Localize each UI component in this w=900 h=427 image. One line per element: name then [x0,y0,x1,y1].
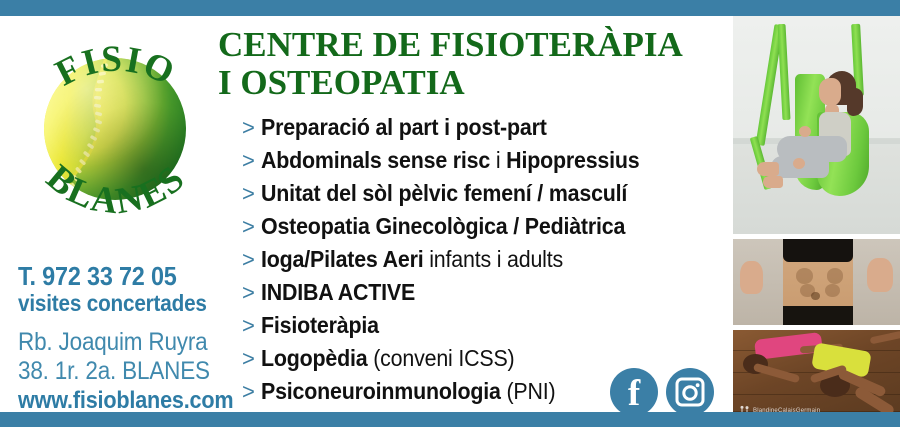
address-block: Rb. Joaquim Ruyra 38. 1r. 2a. BLANES www… [18,328,232,416]
headline-line-2: I OSTEOPATIA [218,64,728,102]
service-item-label: Psiconeuroinmunologia (PNI) [261,378,555,405]
service-item: >Osteopatia Ginecològica / Pediàtrica [242,213,722,246]
headline-line-1: CENTRE DE FISIOTERÀPIA [218,25,683,64]
advertisement-banner: FISIO BLANES T. 972 33 72 05 visites con… [0,0,900,427]
service-item-label: INDIBA ACTIVE [261,279,415,306]
services-list: >Preparació al part i post-part>Abdomina… [242,114,722,411]
service-item-label: Fisioteràpia [261,312,379,339]
chevron-right-icon: > [242,313,261,339]
chevron-right-icon: > [242,148,261,174]
service-item: >Ioga/Pilates Aeri infants i adults [242,246,722,279]
instagram-button[interactable] [666,368,714,416]
phone-number[interactable]: T. 972 33 72 05 [18,262,211,290]
chevron-right-icon: > [242,247,261,273]
service-item-label: Osteopatia Ginecològica / Pediàtrica [261,213,625,240]
service-item: >INDIBA ACTIVE [242,279,722,312]
address-line-2: 38. 1r. 2a. BLANES [18,357,211,386]
contact-block: T. 972 33 72 05 visites concertades Rb. … [18,262,232,416]
photo-column: BlandineCalaisGermain [733,16,900,422]
address-line-1: Rb. Joaquim Ruyra [18,328,211,357]
social-links: f [610,368,714,416]
service-item: >Unitat del sòl pèlvic femení / masculí [242,180,722,213]
service-item: >Fisioteràpia [242,312,722,345]
chevron-right-icon: > [242,181,261,207]
hypopressive-abs-photo [733,239,900,325]
service-item-label: Abdominals sense risc i Hipopressius [261,147,639,174]
chevron-right-icon: > [242,280,261,306]
top-accent-bar [0,0,900,16]
instagram-icon [675,377,705,407]
service-item-label: Preparació al part i post-part [261,114,547,141]
chevron-right-icon: > [242,379,261,405]
page-title: CENTRE DE FISIOTERÀPIA I OSTEOPATIA [218,26,728,102]
spine-sphere-icon [44,58,186,200]
fisio-blanes-logo: FISIO BLANES [8,18,224,246]
aerial-yoga-photo [733,16,900,234]
service-item: >Preparació al part i post-part [242,114,722,147]
sphere-shading [44,58,186,200]
chevron-right-icon: > [242,115,261,141]
bottom-accent-bar [0,412,900,427]
facebook-icon: f [628,375,640,412]
facebook-button[interactable]: f [610,368,658,416]
children-floor-exercise-photo: BlandineCalaisGermain [733,330,900,422]
visits-note: visites concertades [18,290,211,316]
service-item-label: Logopèdia (conveni ICSS) [261,345,514,372]
service-item-label: Ioga/Pilates Aeri infants i adults [261,246,563,273]
service-item: >Abdominals sense risc i Hipopressius [242,147,722,180]
left-column: FISIO BLANES T. 972 33 72 05 visites con… [0,16,232,412]
chevron-right-icon: > [242,214,261,240]
chevron-right-icon: > [242,346,261,372]
center-column: CENTRE DE FISIOTERÀPIA I OSTEOPATIA >Pre… [216,16,726,412]
service-item-label: Unitat del sòl pèlvic femení / masculí [261,180,627,207]
